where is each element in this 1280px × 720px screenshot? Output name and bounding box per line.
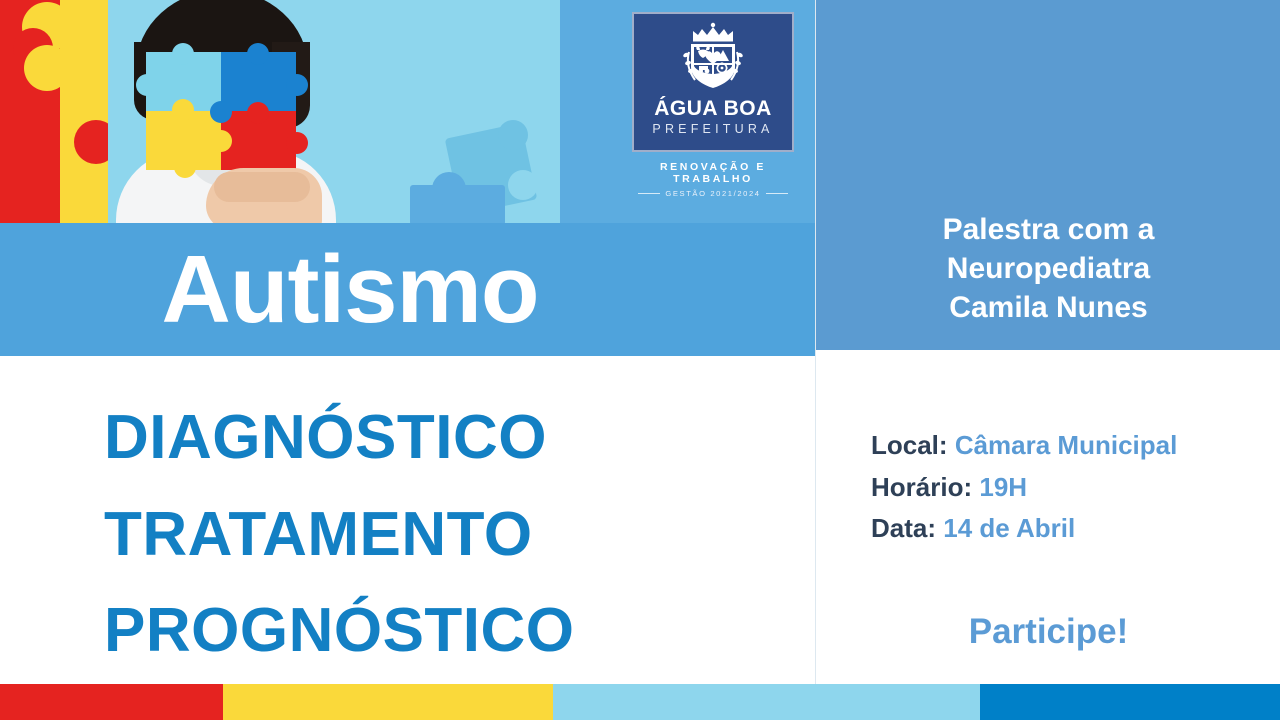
- detail-row-data: Data: 14 de Abril: [871, 508, 1271, 550]
- logo-tagline: RENOVAÇÃO E TRABALHO: [628, 161, 798, 185]
- puzzle-knob-icon: [172, 99, 194, 121]
- detail-label: Data:: [871, 513, 936, 543]
- puzzle-knob-icon: [24, 45, 70, 91]
- puzzle-knob-icon: [247, 43, 269, 65]
- color-segment-blue: [980, 684, 1280, 720]
- logo-subtitle: PREFEITURA: [634, 122, 792, 136]
- puzzle-knob-icon: [210, 101, 232, 123]
- puzzle-knob-icon: [174, 156, 196, 178]
- headline-item: DIAGNÓSTICO: [104, 390, 815, 487]
- child-fingers: [214, 172, 310, 202]
- event-details: Local: Câmara Municipal Horário: 19H Dat…: [871, 425, 1271, 550]
- logo-term: GESTÃO 2021/2024: [628, 189, 798, 198]
- speaker-heading: Palestra com a Neuropediatra Camila Nune…: [816, 210, 1280, 327]
- prefeitura-logo: ÁGUA BOA PREFEITURA RENOVAÇÃO E TRABALHO…: [628, 12, 798, 192]
- detail-value: 14 de Abril: [943, 513, 1075, 543]
- call-to-action: Participe!: [816, 612, 1280, 652]
- puzzle-knob-icon: [247, 102, 269, 124]
- logo-city-name: ÁGUA BOA: [634, 98, 792, 120]
- puzzle-piece-group-icon: [146, 52, 296, 170]
- speaker-line-2: Neuropediatra: [842, 249, 1255, 288]
- color-segment-red: [0, 684, 223, 720]
- headline-item: TRATAMENTO: [104, 487, 815, 584]
- left-column: ÁGUA BOA PREFEITURA RENOVAÇÃO E TRABALHO…: [0, 0, 815, 684]
- detail-value: Câmara Municipal: [955, 430, 1178, 460]
- headline-list: DIAGNÓSTICO TRATAMENTO PROGNÓSTICO: [0, 356, 815, 684]
- color-segment-light-blue: [553, 684, 980, 720]
- detail-label: Local:: [871, 430, 948, 460]
- puzzle-notch-icon: [508, 170, 538, 200]
- detail-value: 19H: [979, 472, 1027, 502]
- logo-box: ÁGUA BOA PREFEITURA: [632, 12, 794, 152]
- puzzle-knob-icon: [286, 74, 308, 96]
- detail-row-horario: Horário: 19H: [871, 467, 1271, 509]
- color-segment-yellow: [223, 684, 553, 720]
- headline-item: PROGNÓSTICO: [104, 583, 815, 680]
- puzzle-knob-icon: [432, 172, 466, 206]
- puzzle-knob-icon: [210, 130, 232, 152]
- coat-of-arms-icon: [671, 22, 755, 96]
- autism-lecture-poster: ÁGUA BOA PREFEITURA RENOVAÇÃO E TRABALHO…: [0, 0, 1280, 720]
- page-title: Autismo: [0, 223, 700, 356]
- child-with-puzzle-pieces-photo: [108, 0, 343, 223]
- puzzle-knob-icon: [286, 132, 308, 154]
- speaker-line-3: Camila Nunes: [842, 288, 1255, 327]
- puzzle-knob-icon: [172, 43, 194, 65]
- bottom-color-bar: [0, 684, 1280, 720]
- puzzle-knob-icon: [498, 120, 528, 150]
- detail-label: Horário:: [871, 472, 972, 502]
- speaker-line-1: Palestra com a: [842, 210, 1255, 249]
- hero-image-area: ÁGUA BOA PREFEITURA RENOVAÇÃO E TRABALHO…: [0, 0, 815, 223]
- right-column: Palestra com a Neuropediatra Camila Nune…: [815, 0, 1280, 684]
- detail-row-local: Local: Câmara Municipal: [871, 425, 1271, 467]
